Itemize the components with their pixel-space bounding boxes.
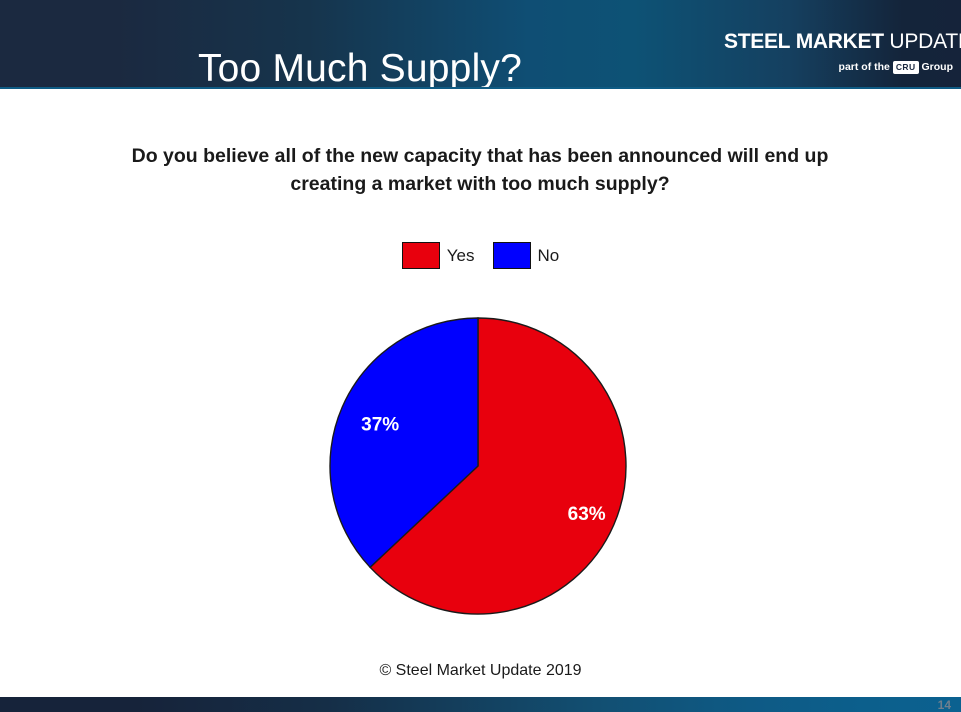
logo-word-steel: STEEL	[724, 30, 790, 53]
legend-item-no: No	[493, 242, 560, 269]
page-number: 14	[938, 699, 951, 712]
steel-market-update-logo: STEEL MARKET UPDATE part of theCRUGroup	[724, 4, 956, 86]
logo-subtitle: part of theCRUGroup	[724, 59, 953, 75]
legend-label-yes: Yes	[447, 243, 475, 268]
logo-wordmark: STEEL MARKET UPDATE	[724, 30, 956, 54]
logo-sub-suffix: Group	[922, 61, 954, 73]
pie-label-yes: 63%	[568, 504, 606, 525]
logo-word-update: UPDATE	[889, 30, 961, 53]
logo-word-market: MARKET	[796, 30, 884, 53]
header-underline	[0, 87, 961, 89]
slide-bottom-bar	[0, 697, 961, 712]
pie-chart: 63% 37%	[328, 316, 628, 616]
pie-label-no: 37%	[361, 415, 399, 436]
legend-swatch-yes	[402, 242, 440, 269]
copyright-notice: © Steel Market Update 2019	[0, 660, 961, 682]
slide: Too Much Supply? STEEL MARKET UPDATE par…	[0, 0, 961, 712]
legend-item-yes: Yes	[402, 242, 475, 269]
logo-sub-prefix: part of the	[839, 61, 890, 73]
pie-chart-svg: 63% 37%	[328, 316, 628, 616]
slide-header: Too Much Supply? STEEL MARKET UPDATE par…	[0, 0, 961, 89]
survey-question: Do you believe all of the new capacity t…	[120, 142, 840, 198]
chart-legend: Yes No	[0, 242, 961, 269]
cru-badge: CRU	[893, 61, 919, 74]
legend-label-no: No	[538, 243, 560, 268]
legend-swatch-no	[493, 242, 531, 269]
page-title: Too Much Supply?	[0, 43, 720, 89]
